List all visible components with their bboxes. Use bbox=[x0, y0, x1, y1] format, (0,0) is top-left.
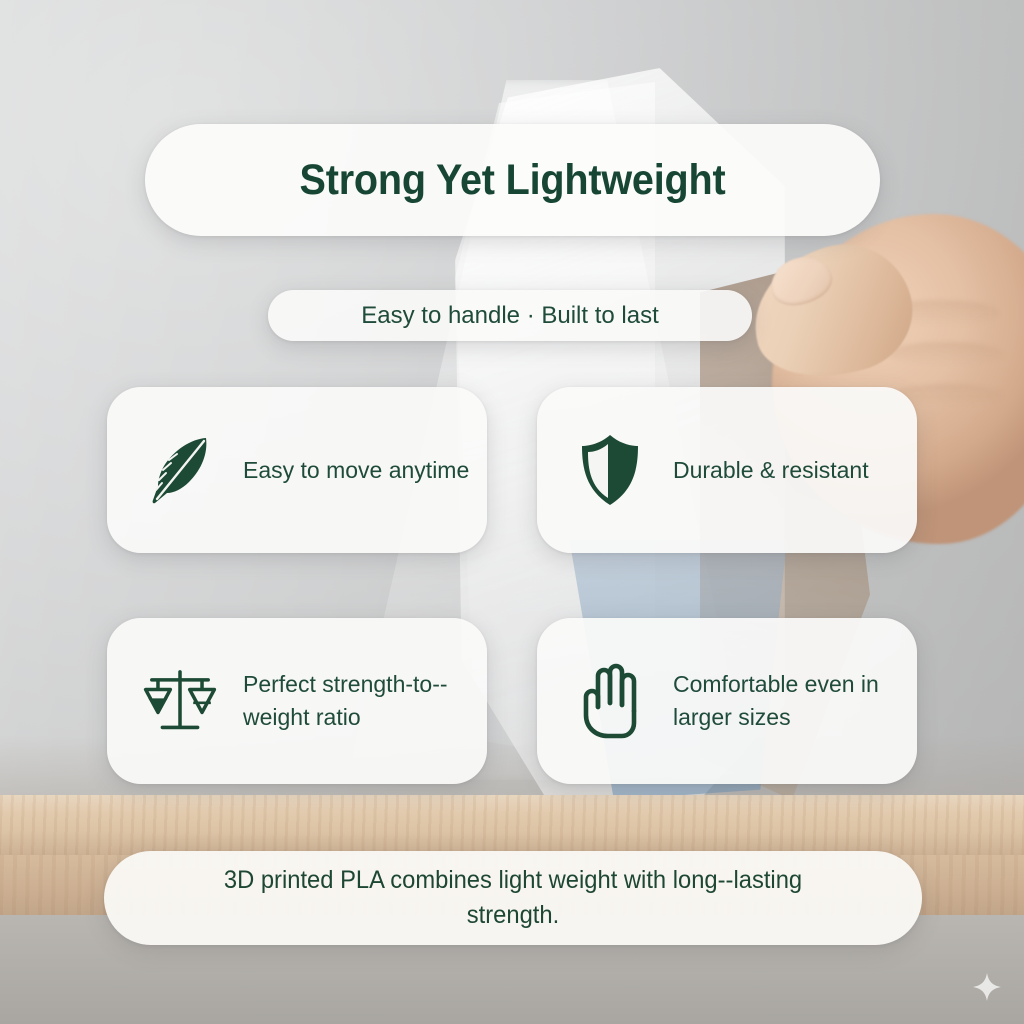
title-banner: Strong Yet Lightweight bbox=[145, 124, 880, 236]
feature-label: Comfortable even in larger sizes bbox=[673, 668, 905, 733]
footer-banner: 3D printed PLA combines light weight wit… bbox=[104, 851, 922, 945]
subtitle-banner: Easy to handle · Built to last bbox=[268, 290, 752, 341]
feature-card-strength-ratio[interactable]: Perfect strength-to--weight ratio bbox=[107, 618, 487, 784]
sparkle-icon bbox=[972, 972, 1002, 1002]
feature-card-easy-to-move[interactable]: Easy to move anytime bbox=[107, 387, 487, 553]
page-title: Strong Yet Lightweight bbox=[300, 156, 726, 205]
feather-icon bbox=[143, 430, 217, 510]
page-subtitle: Easy to handle · Built to last bbox=[361, 302, 659, 330]
promo-infographic: Strong Yet Lightweight Easy to handle · … bbox=[0, 0, 1024, 1024]
footer-text: 3D printed PLA combines light weight wit… bbox=[181, 863, 846, 934]
shield-icon bbox=[573, 430, 647, 510]
balance-scale-icon bbox=[143, 661, 217, 741]
open-hand-icon bbox=[573, 661, 647, 741]
hand-knuckle-2 bbox=[888, 342, 1004, 366]
feature-label: Perfect strength-to--weight ratio bbox=[243, 668, 475, 733]
feature-label: Easy to move anytime bbox=[243, 454, 469, 487]
feature-card-durable[interactable]: Durable & resistant bbox=[537, 387, 917, 553]
feature-label: Durable & resistant bbox=[673, 454, 869, 487]
feature-card-comfortable[interactable]: Comfortable even in larger sizes bbox=[537, 618, 917, 784]
wooden-shelf-top bbox=[0, 795, 1024, 855]
